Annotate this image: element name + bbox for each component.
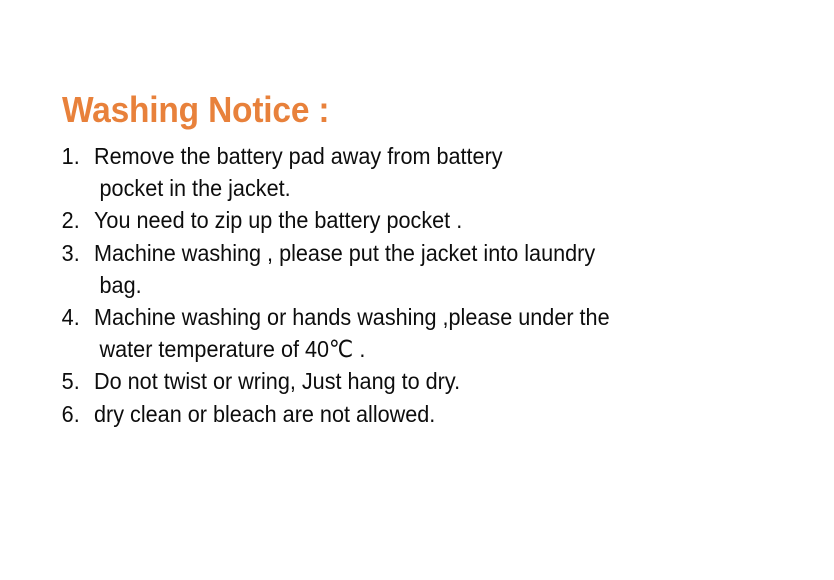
list-item-text-temperature: water temperature of 40℃ . <box>94 333 742 365</box>
list-item: 2. You need to zip up the battery pocket… <box>58 204 798 236</box>
list-item-text: You need to zip up the battery pocket . <box>94 204 742 236</box>
list-item: 6. dry clean or bleach are not allowed. <box>58 398 798 430</box>
list-item-text: dry clean or bleach are not allowed. <box>94 398 742 430</box>
list-item: 5. Do not twist or wring, Just hang to d… <box>58 365 798 397</box>
list-item-continuation: bag. <box>58 269 798 301</box>
list-item-continuation: water temperature of 40℃ . <box>58 333 798 365</box>
list-item-number: 4. <box>58 301 91 333</box>
list-item-text: Do not twist or wring, Just hang to dry. <box>94 365 742 397</box>
list-item-continuation: pocket in the jacket. <box>58 172 798 204</box>
list-item-text: pocket in the jacket. <box>94 172 742 204</box>
list-item-number: 1. <box>58 140 91 172</box>
list-item-text: bag. <box>94 269 742 301</box>
list-item-text: Machine washing , please put the jacket … <box>94 237 742 269</box>
page-title: Washing Notice : <box>62 92 329 128</box>
list-item-number: 2. <box>58 204 91 236</box>
list-item: 3. Machine washing , please put the jack… <box>58 237 798 269</box>
list-item: 1. Remove the battery pad away from batt… <box>58 140 798 172</box>
list-item-number: 3. <box>58 237 91 269</box>
list-item: 4. Machine washing or hands washing ,ple… <box>58 301 798 333</box>
list-item-number: 5. <box>58 365 91 397</box>
list-item-text: Remove the battery pad away from battery <box>94 140 742 172</box>
list-item-number: 6. <box>58 398 91 430</box>
washing-instructions-list: 1. Remove the battery pad away from batt… <box>58 140 798 430</box>
list-item-text: Machine washing or hands washing ,please… <box>94 301 742 333</box>
washing-notice-document: Washing Notice : 1. Remove the battery p… <box>0 0 834 580</box>
